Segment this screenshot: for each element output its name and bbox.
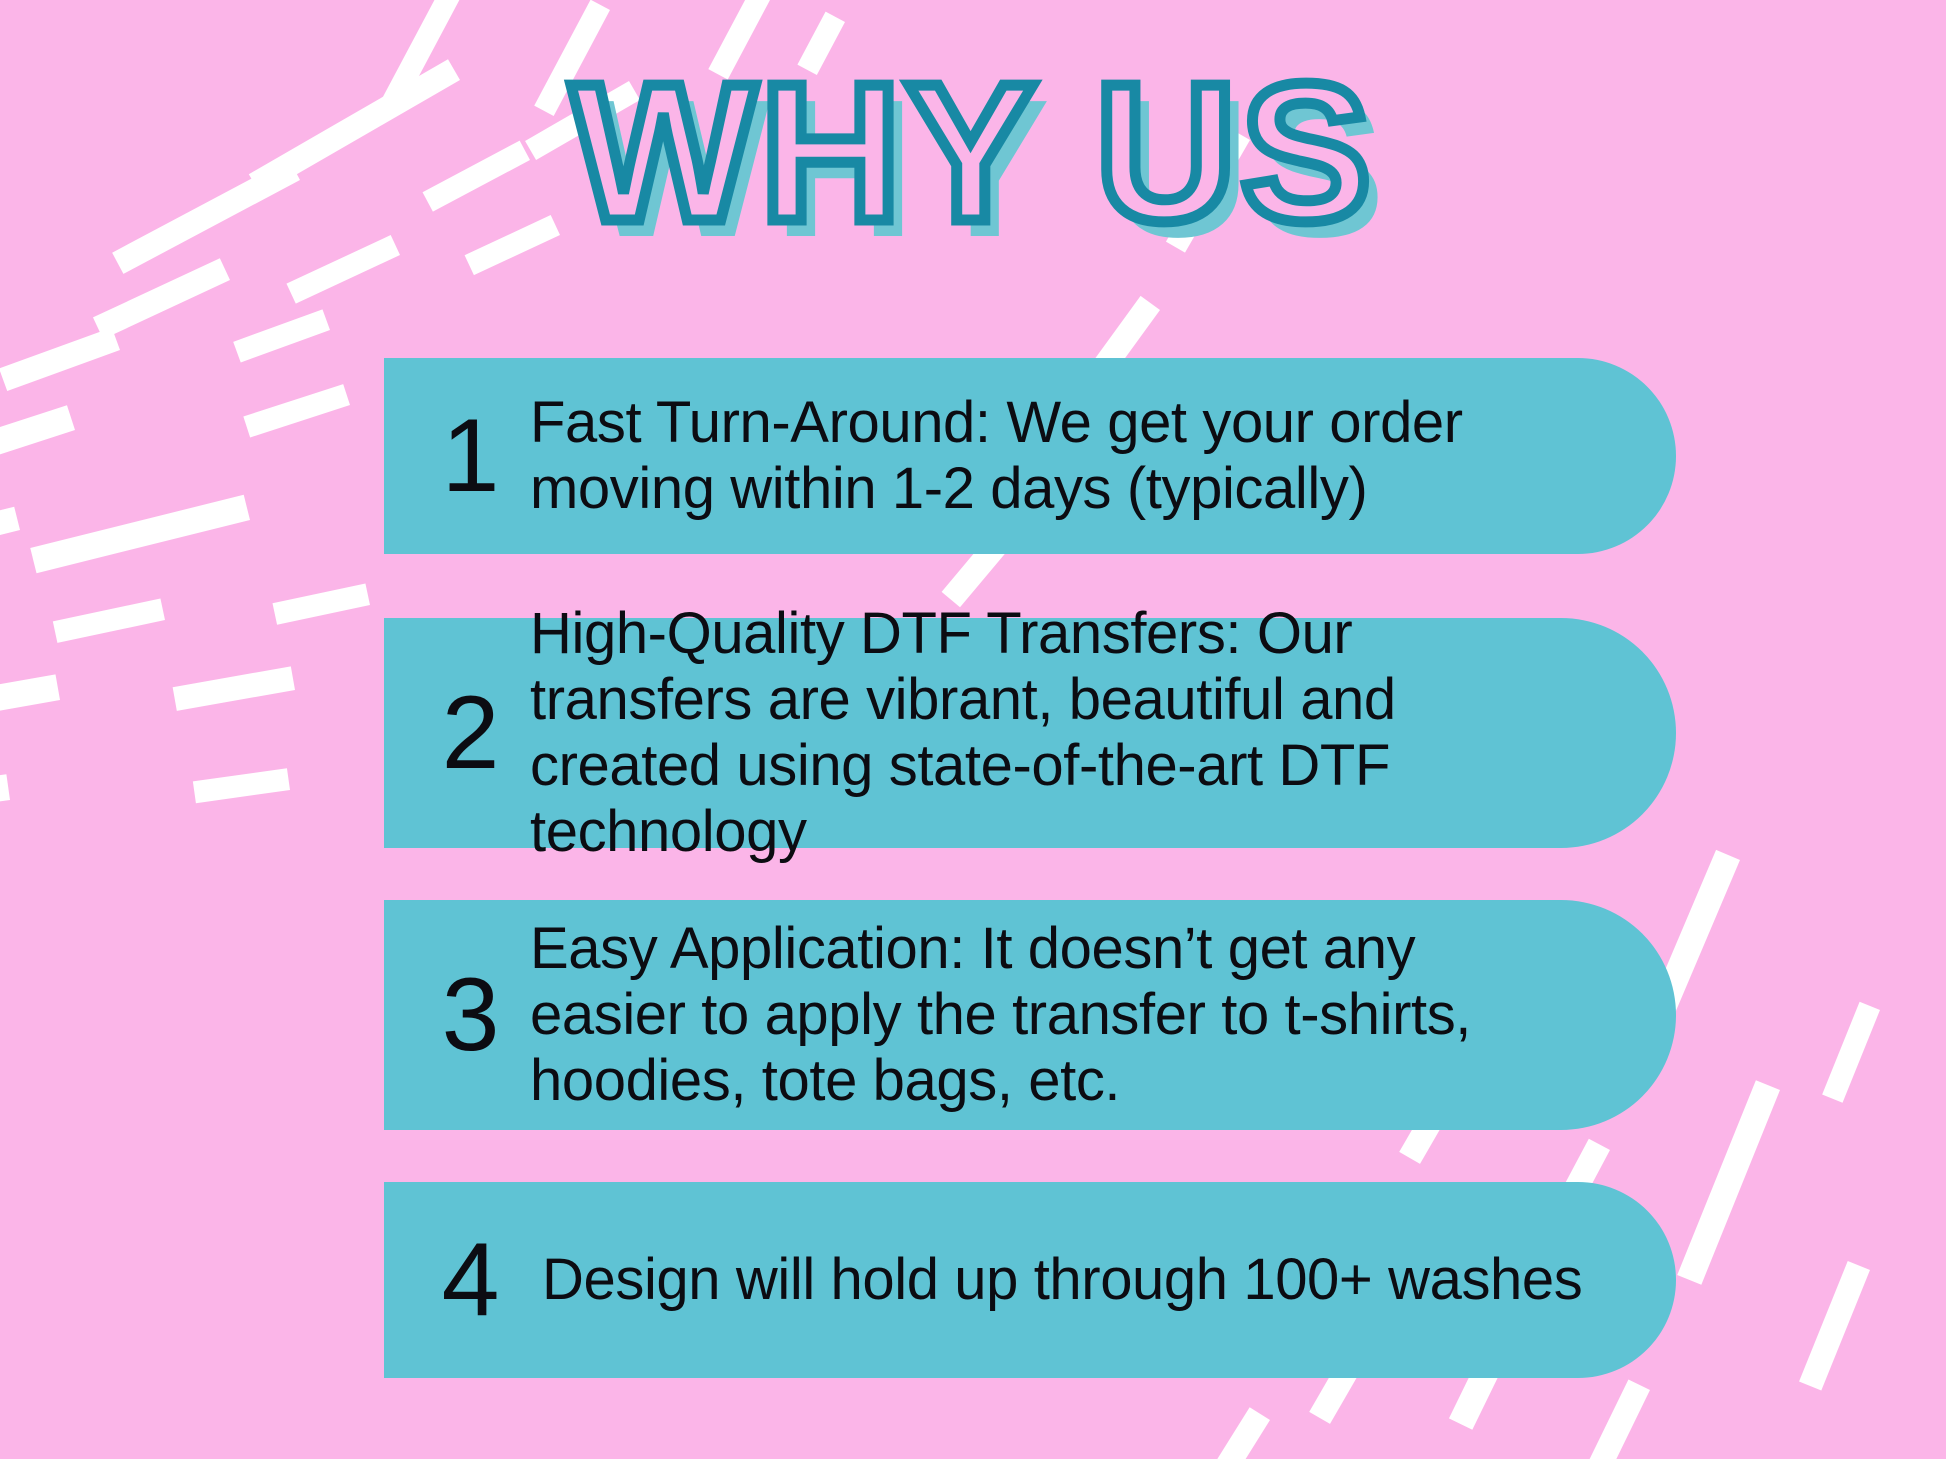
list-item-number: 3 [424, 963, 516, 1067]
dash-stripe [0, 674, 60, 734]
dash-stripe [0, 507, 20, 569]
dash-stripe [0, 774, 10, 832]
dash-stripe [273, 583, 370, 624]
list-item-text: Design will hold up through 100+ washes [516, 1247, 1586, 1313]
page-title: WHY US WHY US WHY US [0, 48, 1946, 268]
list-item-text: High-Quality DTF Transfers: Our transfer… [516, 601, 1586, 865]
dash-stripe [1186, 1407, 1270, 1459]
list-item-text: Easy Application: It doesn’t get any eas… [516, 916, 1586, 1114]
dash-stripe [53, 598, 165, 642]
list-item: 2 High-Quality DTF Transfers: Our transf… [384, 618, 1676, 848]
dash-stripe [233, 309, 330, 362]
dash-stripe [173, 666, 295, 710]
dash-stripe [30, 495, 250, 573]
list-item-text: Fast Turn-Around: We get your order movi… [516, 390, 1586, 522]
dash-stripe [1822, 1002, 1880, 1103]
dash-stripe [1799, 1261, 1870, 1391]
dash-stripe [0, 405, 75, 495]
list-item-number: 2 [424, 681, 516, 785]
list-item-number: 4 [424, 1228, 516, 1332]
dash-stripe [243, 384, 350, 437]
list-item: 4 Design will hold up through 100+ washe… [384, 1182, 1676, 1378]
list-item-number: 1 [424, 404, 516, 508]
dash-stripe [1563, 1379, 1650, 1459]
poster-canvas: WHY US WHY US WHY US 1 Fast Turn-Around:… [0, 0, 1946, 1459]
list-item: 3 Easy Application: It doesn’t get any e… [384, 900, 1676, 1130]
list-item: 1 Fast Turn-Around: We get your order mo… [384, 358, 1676, 554]
benefits-list: 1 Fast Turn-Around: We get your order mo… [384, 358, 1714, 1378]
dash-stripe [0, 327, 120, 391]
dash-stripe [193, 768, 290, 803]
page-title-outline: WHY US [0, 48, 1946, 258]
